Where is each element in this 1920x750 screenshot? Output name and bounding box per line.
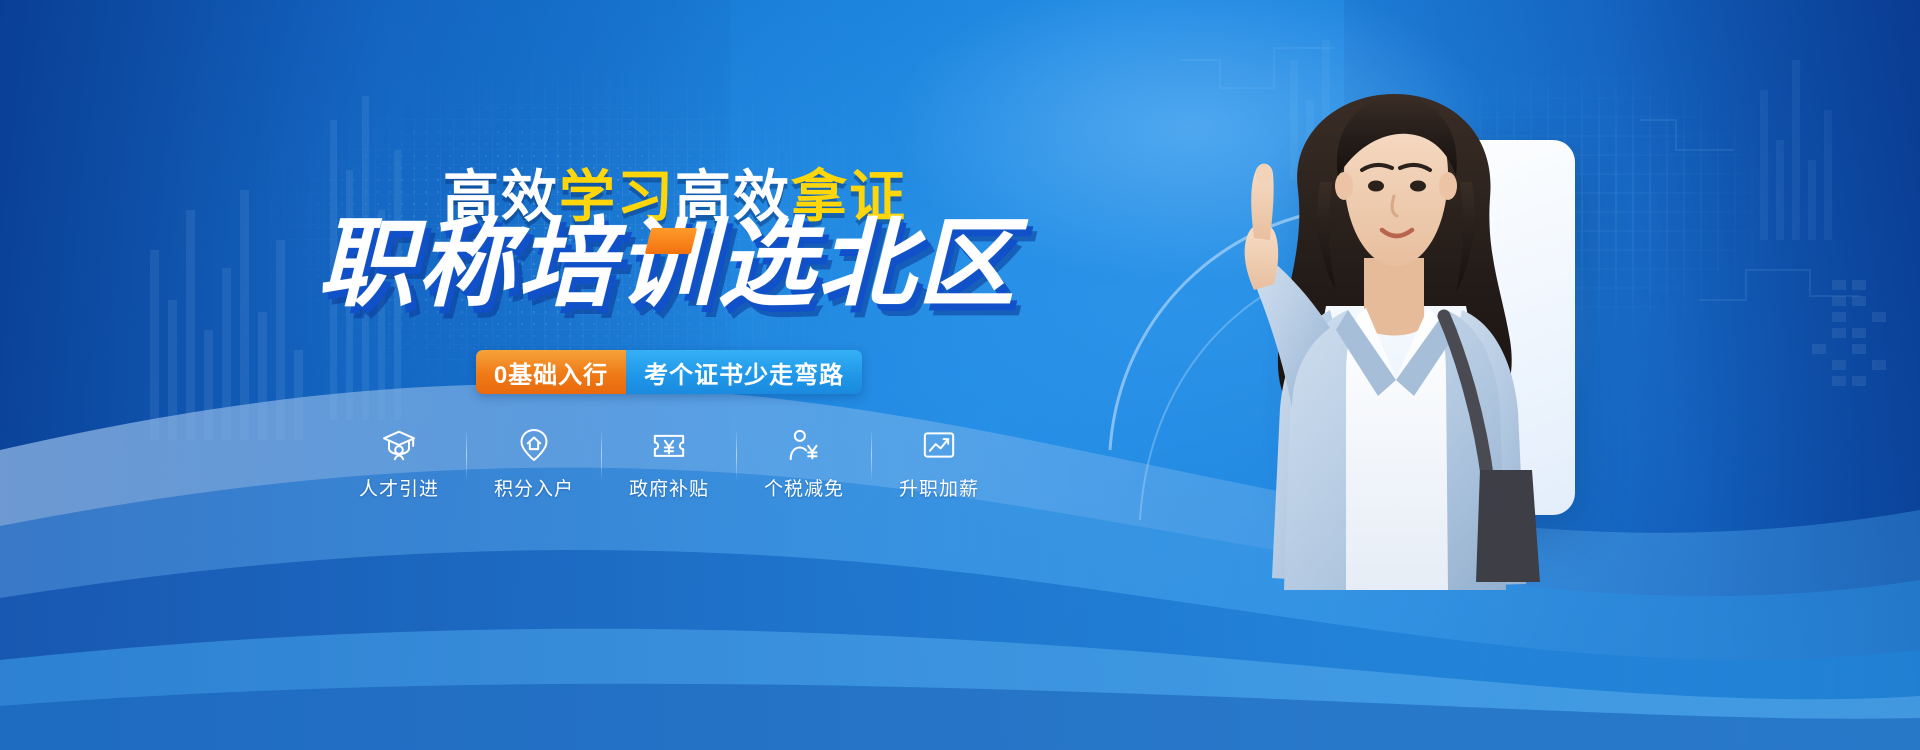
feature-item-tax-reduction[interactable]: 个税减免 (737, 425, 871, 501)
banner-content: 高效学习高效拿证 职称培训选北区 0基础入行 考个证书少走弯路 (0, 0, 1160, 750)
orange-accent-mark-icon (645, 228, 697, 254)
page-title: 职称培训选北区 (0, 215, 1160, 314)
badge-row: 0基础入行 考个证书少走弯路 (0, 350, 1160, 394)
badge-primary: 0基础入行 (476, 350, 626, 394)
feature-label: 人才引进 (359, 474, 439, 501)
ticket-yuan-icon (649, 425, 689, 465)
badge-secondary: 考个证书少走弯路 (626, 350, 862, 394)
feature-item-promotion-raise[interactable]: 升职加薪 (872, 425, 1006, 501)
feature-item-talent-introduction[interactable]: 人才引进 (332, 425, 466, 501)
chart-up-icon (919, 425, 959, 465)
feature-label: 政府补贴 (629, 474, 709, 501)
banner-root: 高效学习高效拿证 职称培训选北区 0基础入行 考个证书少走弯路 (0, 0, 1920, 750)
graduation-cap-icon (379, 425, 419, 465)
feature-label: 升职加薪 (899, 474, 979, 501)
feature-label: 积分入户 (494, 474, 574, 501)
feature-item-government-subsidy[interactable]: 政府补贴 (602, 425, 736, 501)
model-photo (1180, 78, 1610, 638)
status-badge: 0基础入行 考个证书少走弯路 (476, 350, 862, 394)
feature-item-points-residency[interactable]: 积分入户 (467, 425, 601, 501)
feature-label: 个税减免 (764, 474, 844, 501)
person-yuan-icon (784, 425, 824, 465)
feature-list: 人才引进 积分入户 (0, 425, 1160, 501)
house-pin-icon (514, 425, 554, 465)
